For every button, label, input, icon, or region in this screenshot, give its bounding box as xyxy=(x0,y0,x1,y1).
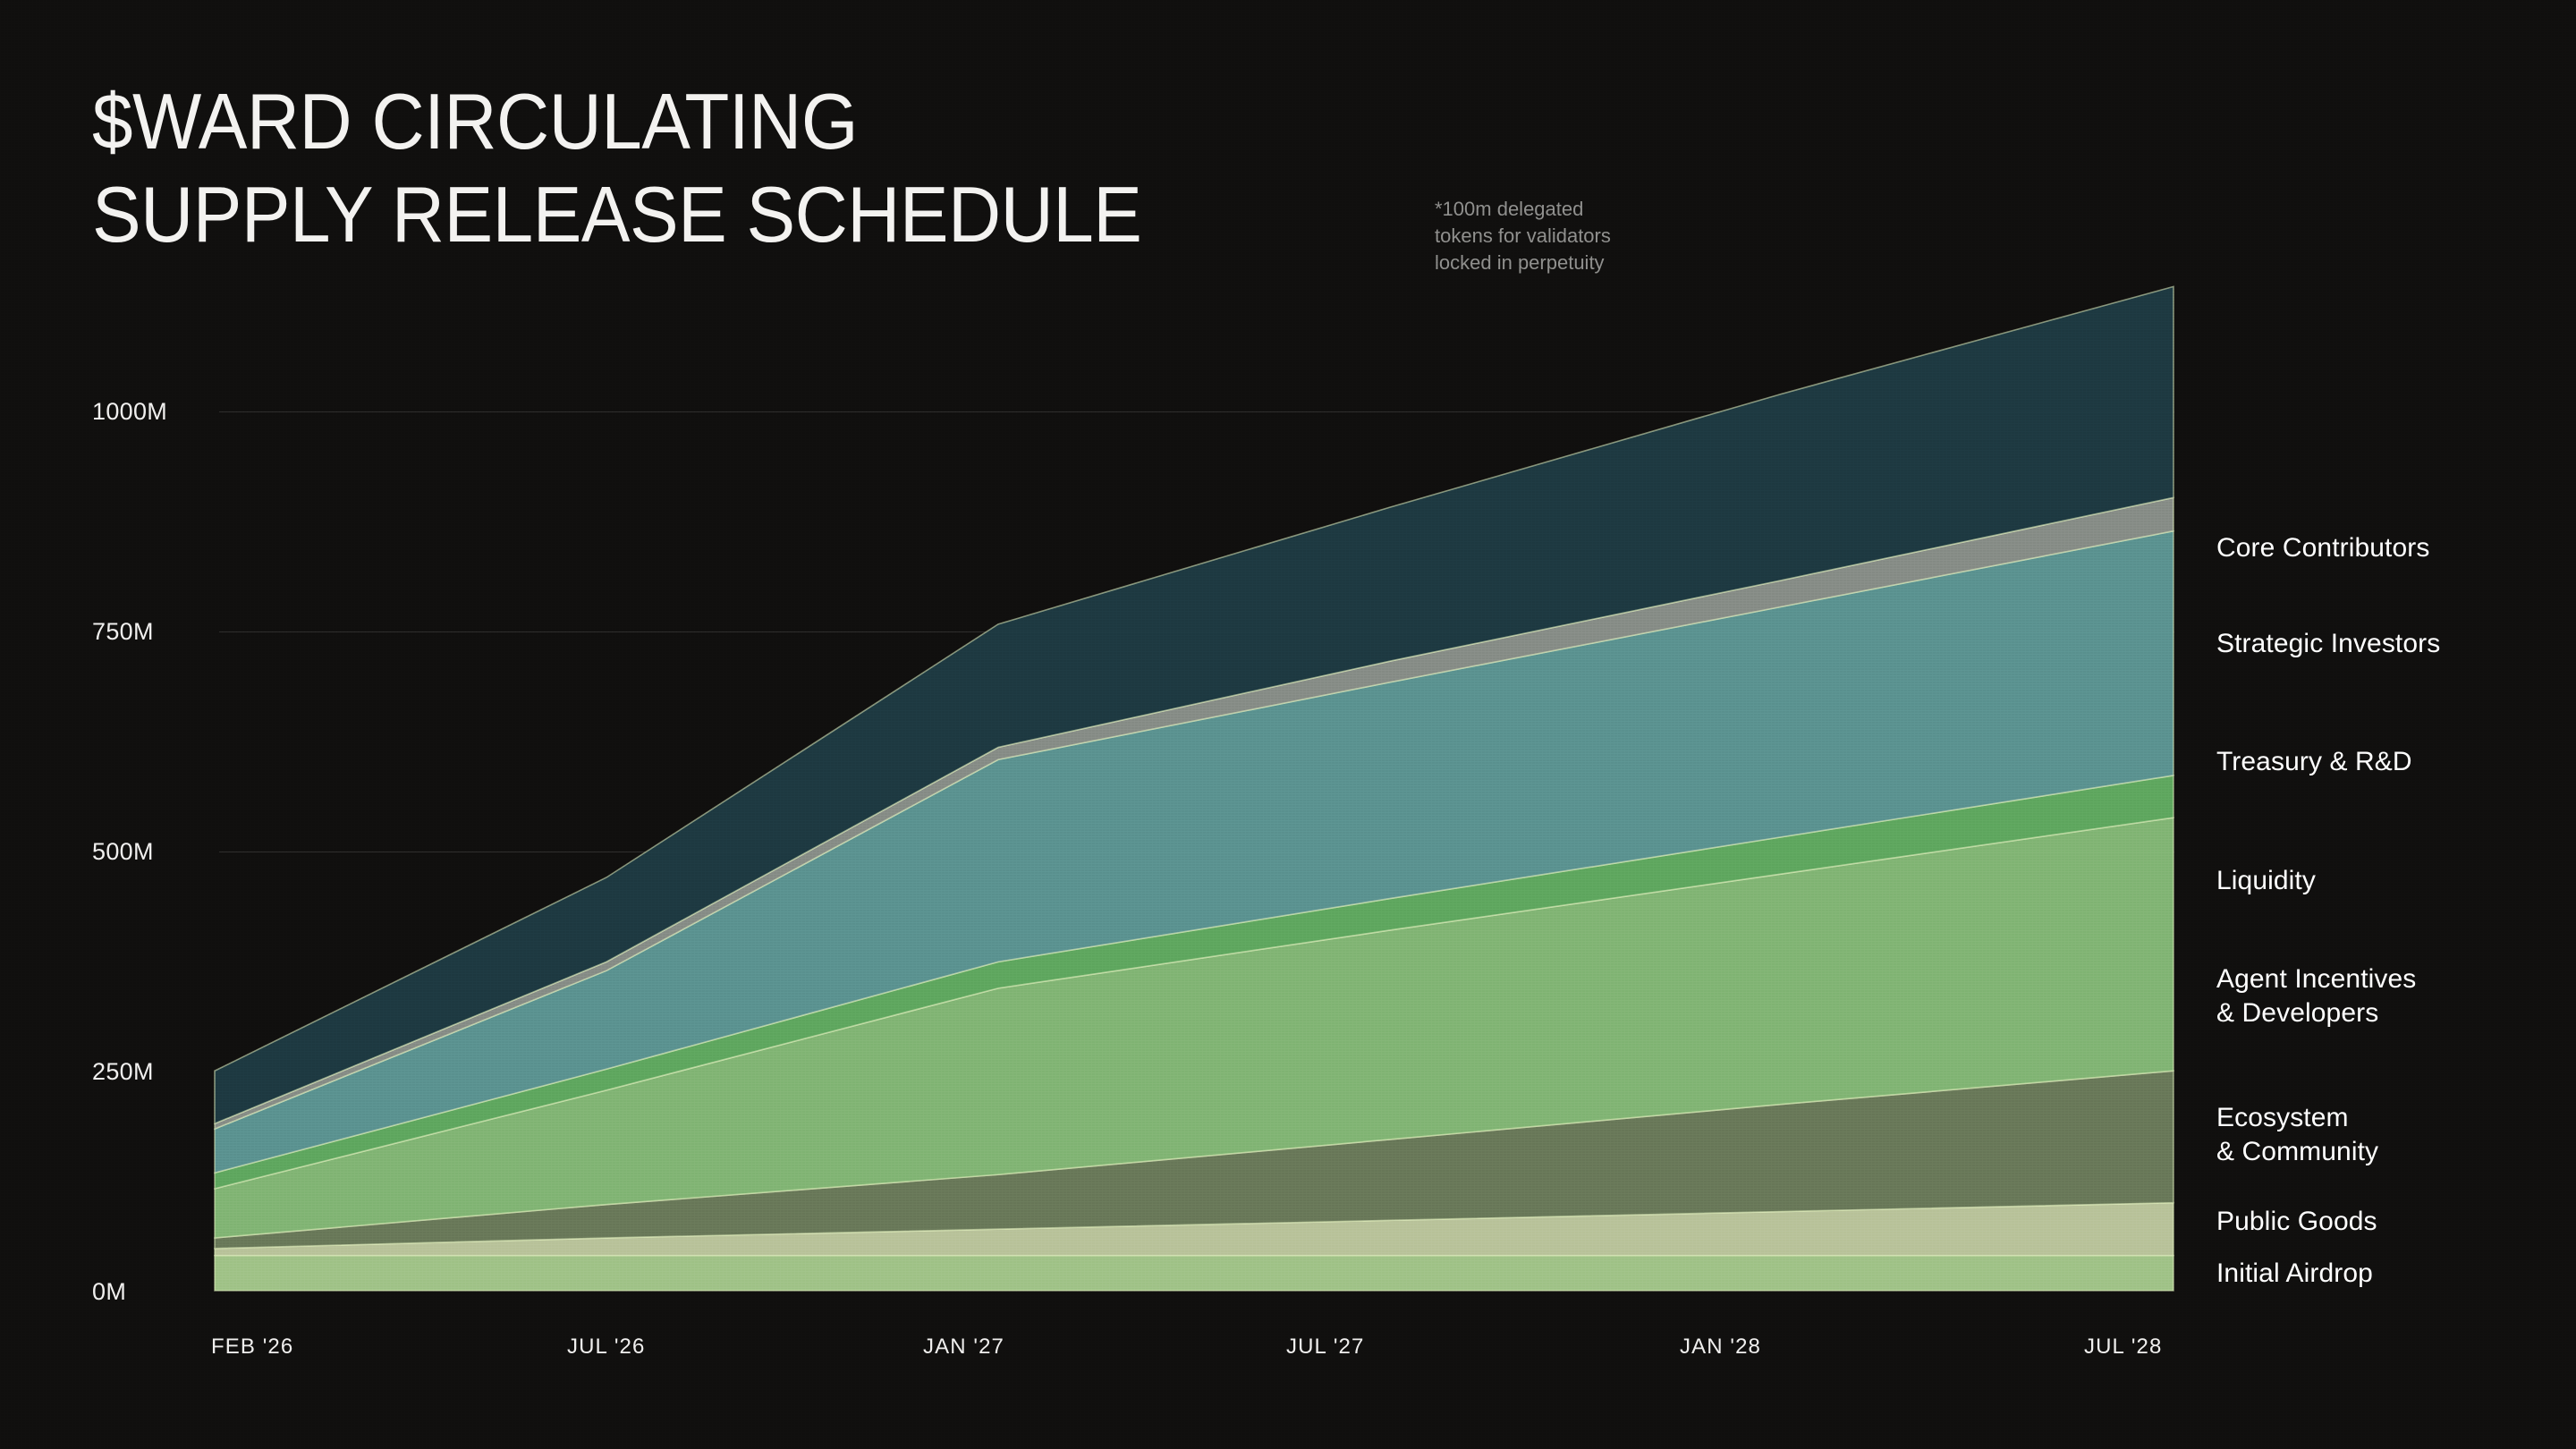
legend-label: Strategic Investors xyxy=(2216,627,2440,661)
legend-label: Public Goods xyxy=(2216,1205,2377,1239)
legend-label: Liquidity xyxy=(2216,864,2316,898)
legend-item-treasury-rd: Treasury & R&D xyxy=(2216,745,2412,779)
chart-canvas: $WARD CIRCULATING SUPPLY RELEASE SCHEDUL… xyxy=(0,0,2576,1449)
legend-item-initial-airdrop: Initial Airdrop xyxy=(2216,1257,2373,1291)
legend-item-ecosystem-community: Ecosystem & Community xyxy=(2216,1101,2378,1169)
legend-label-line2: & Developers xyxy=(2216,996,2416,1030)
legend-label: Initial Airdrop xyxy=(2216,1257,2373,1291)
legend-item-strategic-investors: Strategic Investors xyxy=(2216,627,2440,661)
legend-item-public-goods: Public Goods xyxy=(2216,1205,2377,1239)
legend-item-agent-incentives: Agent Incentives & Developers xyxy=(2216,962,2416,1030)
legend-item-core-contributors: Core Contributors xyxy=(2216,531,2429,565)
stacked-area-chart: 1000M 750M 500M 250M 0M FEB '26 JUL '26 … xyxy=(0,0,2576,1449)
area-series-group xyxy=(0,0,2576,1449)
legend-label-line2: & Community xyxy=(2216,1135,2378,1169)
legend-label: Core Contributors xyxy=(2216,531,2429,565)
legend-label: Agent Incentives xyxy=(2216,962,2416,996)
legend-label: Ecosystem xyxy=(2216,1101,2378,1135)
legend-item-liquidity: Liquidity xyxy=(2216,864,2316,898)
area-band-initial-airdrop xyxy=(215,1256,2173,1291)
legend-label: Treasury & R&D xyxy=(2216,745,2412,779)
